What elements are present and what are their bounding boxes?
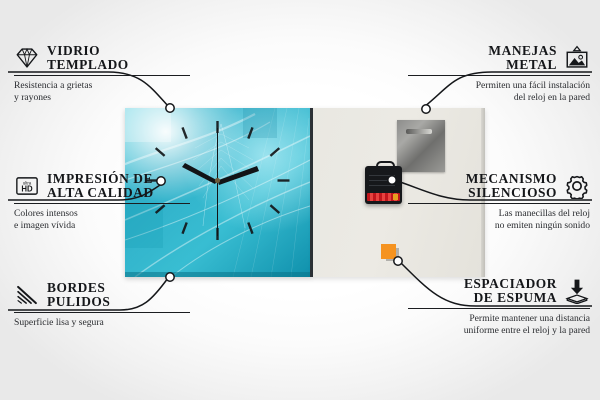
leader-dot-edges: [166, 273, 174, 281]
feature-title-line2: PULIDOS: [47, 295, 110, 309]
feature-description: Superficie lisa y segura: [14, 317, 190, 330]
feature-title-line2: METAL: [506, 58, 557, 72]
foam-spacer-arrow-icon: [564, 278, 590, 304]
feature-hooks: MANEJAS METAL Permiten una fácil instala…: [408, 44, 590, 105]
feature-mechanism: MECANISMO SILENCIOSO Las manecillas del …: [408, 172, 590, 233]
picture-frame-hanging-icon: [564, 45, 590, 71]
leader-dot-mech: [388, 176, 396, 184]
feature-rule: [14, 203, 190, 205]
feature-title-line2: SILENCIOSO: [468, 186, 557, 200]
feature-edges: BORDES PULIDOS Superficie lisa y segura: [14, 281, 190, 329]
feature-title-line1: ESPACIADOR: [464, 277, 557, 291]
feature-description: Las manecillas del reloj no emiten ningú…: [408, 208, 590, 233]
feature-title-line2: ALTA CALIDAD: [47, 186, 154, 200]
feature-description: Resistencia a grietas y rayones: [14, 80, 190, 105]
ultra-hd-icon: ultra HD: [14, 173, 40, 199]
feature-title-line1: MECANISMO: [466, 172, 557, 186]
feature-title-line2: DE ESPUMA: [474, 291, 557, 305]
leader-dot-spacer: [394, 257, 402, 265]
leader-dot-glass: [166, 104, 174, 112]
feature-title-line1: IMPRESIÓN DE: [47, 172, 154, 186]
feature-title-line1: MANEJAS: [488, 44, 557, 58]
feature-glass: VIDRIO TEMPLADO Resistencia a grietas y …: [14, 44, 190, 105]
feature-rule: [14, 312, 190, 314]
feature-rule: [408, 203, 590, 205]
feature-description: Permite mantener una distancia uniforme …: [408, 313, 590, 338]
diamond-icon: [14, 45, 40, 71]
infographic-canvas: VIDRIO TEMPLADO Resistencia a grietas y …: [0, 0, 600, 400]
feature-spacer: ESPACIADOR DE ESPUMA Permite mantener un…: [408, 277, 590, 338]
feature-title-line1: VIDRIO: [47, 44, 129, 58]
feature-title-line1: BORDES: [47, 281, 110, 295]
feature-description: Colores intensos e imagen vívida: [14, 208, 190, 233]
leader-dot-hooks: [422, 105, 430, 113]
feature-description: Permiten una fácil instalación del reloj…: [408, 80, 590, 105]
feature-title-line2: TEMPLADO: [47, 58, 129, 72]
polished-edges-icon: [14, 282, 40, 308]
feature-print: ultra HD IMPRESIÓN DE ALTA CALIDAD Color…: [14, 172, 190, 233]
feature-rule: [14, 75, 190, 77]
feature-rule: [408, 308, 590, 310]
gear-icon: [564, 173, 590, 199]
svg-text:HD: HD: [21, 184, 33, 193]
feature-rule: [408, 75, 590, 77]
